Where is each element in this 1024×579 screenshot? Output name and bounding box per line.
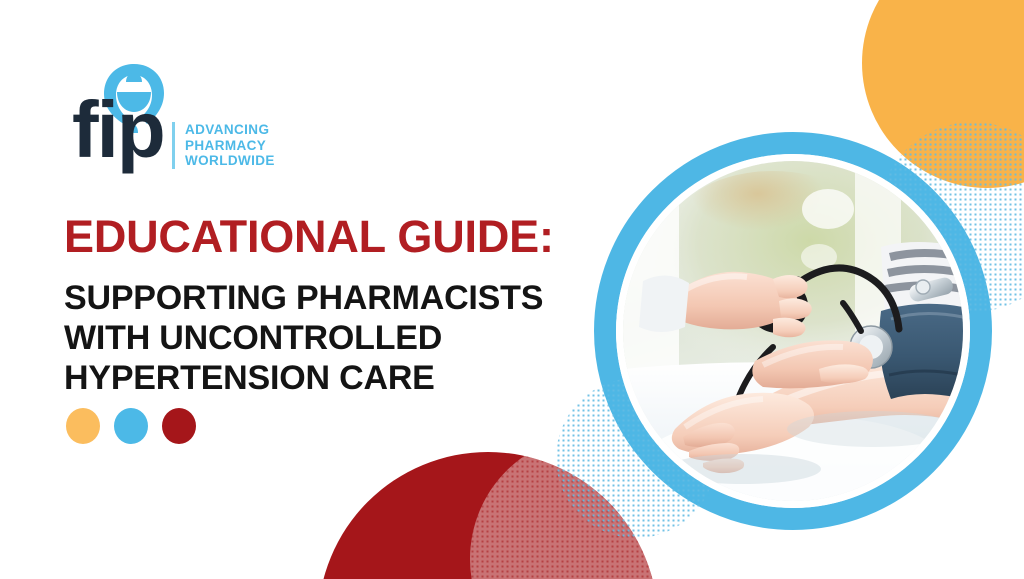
tagline-line-1: ADVANCING	[185, 122, 275, 138]
tagline-line-3: WORLDWIDE	[185, 153, 275, 169]
subtitle-line-1: SUPPORTING PHARMACISTS	[64, 278, 543, 318]
fip-wordmark: fip	[72, 90, 164, 170]
accent-dot-red	[162, 408, 196, 444]
blood-pressure-photo-illustration	[623, 161, 963, 501]
accent-dot-amber	[66, 408, 100, 444]
cover-photo	[623, 161, 963, 501]
cover-page: fip ADVANCING PHARMACY WORLDWIDE EDUCATI…	[0, 0, 1024, 579]
page-title: EDUCATIONAL GUIDE:	[64, 212, 554, 262]
fip-logo: fip ADVANCING PHARMACY WORLDWIDE	[72, 62, 287, 184]
tagline-line-2: PHARMACY	[185, 138, 275, 154]
subtitle-line-3: HYPERTENSION CARE	[64, 358, 543, 398]
red-halftone-decoration	[318, 452, 658, 579]
fip-tagline: ADVANCING PHARMACY WORLDWIDE	[172, 122, 275, 169]
accent-dots	[66, 408, 196, 444]
accent-dot-blue	[114, 408, 148, 444]
orange-circle-decoration	[862, 0, 1024, 188]
subtitle-line-2: WITH UNCONTROLLED	[64, 318, 543, 358]
red-circle-decoration	[318, 452, 658, 579]
page-subtitle: SUPPORTING PHARMACISTS WITH UNCONTROLLED…	[64, 278, 543, 398]
